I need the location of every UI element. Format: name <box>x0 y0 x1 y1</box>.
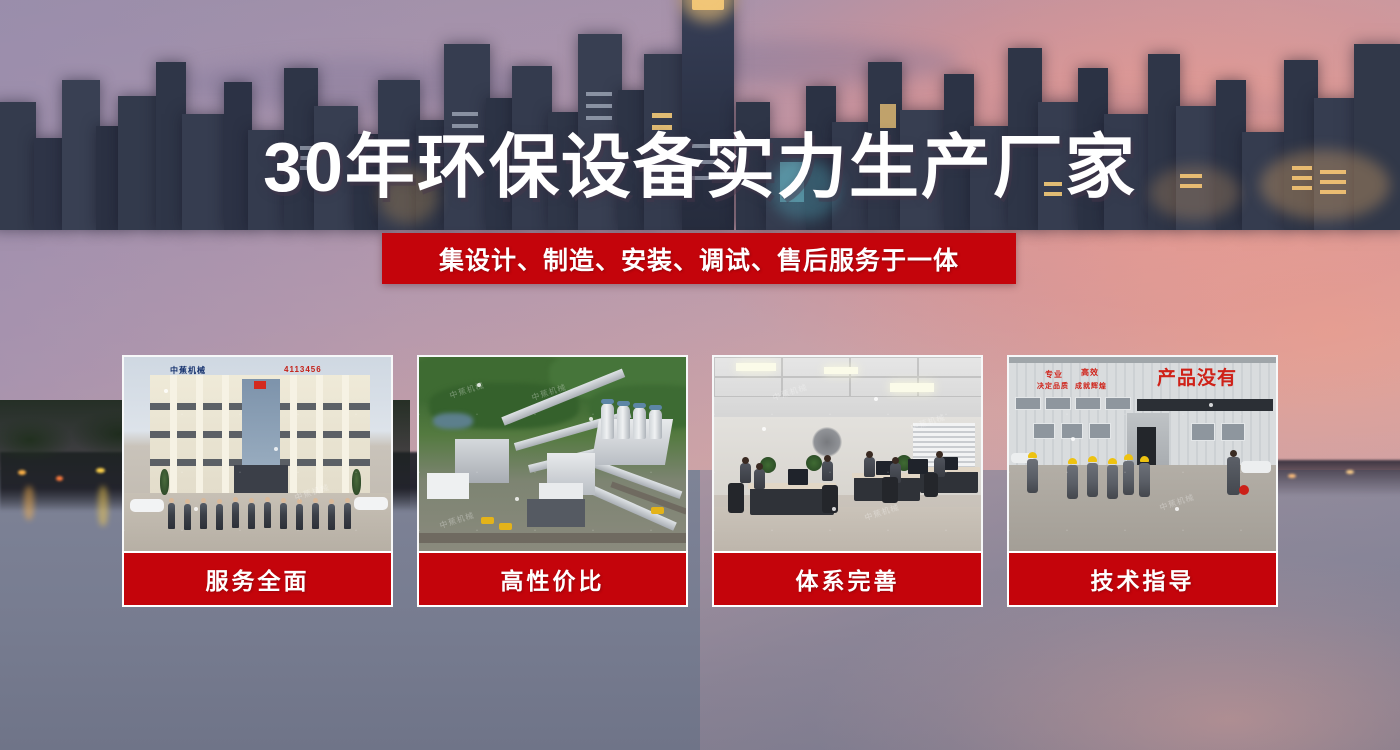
silo-top <box>617 401 630 406</box>
card-caption-text: 服务全面 <box>206 562 310 596</box>
factory-window <box>1105 397 1131 410</box>
mesh-node <box>874 397 878 401</box>
window-light <box>652 113 672 118</box>
window-light <box>586 104 612 108</box>
factory-slogan-large: 产品没有 <box>1157 363 1237 390</box>
water-reflection <box>98 486 108 526</box>
window-light <box>586 92 612 96</box>
feature-card[interactable]: 产品没有 专业 高效 决定品质 成就辉煌 <box>1007 355 1278 607</box>
factory-window <box>1033 423 1055 439</box>
ceiling-tile <box>850 357 918 377</box>
silo-top <box>633 403 646 408</box>
company-sign-text: 中蕉机械 <box>170 365 206 376</box>
factory-slogan-small: 高效 <box>1081 367 1099 378</box>
factory-window <box>1089 423 1111 439</box>
courtyard-ground <box>124 493 393 551</box>
factory-window <box>1075 397 1101 410</box>
building-column <box>290 375 297 493</box>
water-reflection <box>24 486 34 520</box>
red-helmet-icon <box>1239 485 1249 495</box>
staff-figure <box>296 504 303 530</box>
staff-figure <box>184 504 191 530</box>
worker-figure <box>1067 465 1078 499</box>
worker-figure <box>1107 465 1118 499</box>
company-sign-phone: 4113456 <box>284 365 322 374</box>
office-worker <box>822 461 833 481</box>
cement-silo <box>601 403 614 439</box>
staff-figure <box>280 503 287 529</box>
cement-silo <box>649 409 662 439</box>
worker-figure <box>1139 463 1150 497</box>
office-worker <box>864 457 875 477</box>
cement-silo <box>617 405 630 439</box>
ceiling-light <box>824 367 858 374</box>
card-caption-bar: 技术指导 <box>1007 551 1278 607</box>
card-thumbnail-office[interactable]: 中蕉机械 中蕉机械 中蕉机械 <box>712 355 983 551</box>
tree-icon <box>352 469 361 495</box>
card-caption-text: 体系完善 <box>796 562 900 596</box>
mesh-node <box>832 507 836 511</box>
scene-headquarters: 中蕉机械 4113456 <box>124 357 391 551</box>
card-thumbnail-headquarters[interactable]: 中蕉机械 4113456 <box>122 355 393 551</box>
plant-structure <box>527 499 585 527</box>
factory-window <box>1015 397 1041 410</box>
staff-figure <box>264 502 271 528</box>
card-caption-bar: 服务全面 <box>122 551 393 607</box>
flag-icon <box>254 381 266 389</box>
building-column <box>342 375 349 493</box>
factory-slogan-small: 成就辉煌 <box>1075 381 1107 391</box>
factory-window <box>1221 423 1245 441</box>
monitor <box>788 469 808 485</box>
mesh-node <box>1071 437 1075 441</box>
factory-window <box>1045 397 1071 410</box>
scene-office-interior <box>714 357 981 551</box>
mesh-node <box>589 417 593 421</box>
factory-roofline <box>1009 357 1278 363</box>
worker-figure <box>1027 459 1038 493</box>
building-column <box>196 375 203 493</box>
window-light <box>452 112 478 116</box>
dump-truck-icon <box>499 523 512 530</box>
feature-card[interactable]: 中蕉机械 中蕉机械 中蕉机械 高性价比 <box>417 355 688 607</box>
water-pond <box>433 413 473 429</box>
factory-vent-strip <box>1137 399 1273 411</box>
shore-light <box>1288 474 1296 478</box>
feature-card[interactable]: 中蕉机械 中蕉机械 中蕉机械 体系完善 <box>712 355 983 607</box>
office-chair <box>728 483 744 513</box>
page-title: 30年环保设备实力生产厂家 <box>0 132 1400 202</box>
shore-light <box>96 468 105 473</box>
mesh-node <box>515 497 519 501</box>
building-column <box>316 375 323 493</box>
mesh-node <box>194 507 198 511</box>
mesh-node <box>274 447 278 451</box>
cement-silo <box>633 407 646 439</box>
office-worker <box>754 469 765 489</box>
dump-truck-icon <box>651 507 664 514</box>
feature-card-list: 中蕉机械 4113456 <box>122 355 1278 607</box>
card-thumbnail-plant-aerial[interactable]: 中蕉机械 中蕉机械 中蕉机械 <box>417 355 688 551</box>
card-caption-text: 高性价比 <box>501 562 605 596</box>
staff-figure <box>168 503 175 529</box>
window-light <box>586 116 612 120</box>
card-thumbnail-workshop[interactable]: 产品没有 专业 高效 决定品质 成就辉煌 <box>1007 355 1278 551</box>
worker-figure <box>1087 463 1098 497</box>
ceiling-light <box>736 363 776 371</box>
wall-emblem <box>812 427 842 457</box>
feature-card[interactable]: 中蕉机械 4113456 <box>122 355 393 607</box>
plant-structure <box>427 473 469 499</box>
silo-top <box>649 405 662 410</box>
office-chair <box>924 473 938 497</box>
car-icon <box>1241 461 1271 473</box>
building-column <box>170 375 177 493</box>
potted-plant <box>806 455 822 471</box>
promo-banner: 30年环保设备实力生产厂家 集设计、制造、安装、调试、售后服务于一体 <box>0 0 1400 750</box>
staff-figure <box>248 503 255 529</box>
car-icon <box>354 497 388 510</box>
mesh-node <box>1209 403 1213 407</box>
card-caption-text: 技术指导 <box>1091 562 1195 596</box>
subtitle-bar: 集设计、制造、安装、调试、售后服务于一体 <box>382 233 1016 284</box>
shore-light <box>18 470 26 475</box>
monitor <box>908 459 928 474</box>
window-light <box>880 104 896 128</box>
worker-figure <box>1123 461 1134 495</box>
tree-icon <box>160 469 169 495</box>
building-column <box>222 375 229 493</box>
staff-figure <box>312 503 319 529</box>
mesh-node <box>762 427 766 431</box>
factory-slogan-small: 决定品质 <box>1037 381 1069 391</box>
card-caption-bar: 高性价比 <box>417 551 688 607</box>
dump-truck-icon <box>481 517 494 524</box>
plant-structure <box>539 483 583 499</box>
factory-slogan-small: 专业 <box>1045 369 1063 380</box>
ceiling-light <box>890 383 934 392</box>
subtitle-text: 集设计、制造、安装、调试、售后服务于一体 <box>439 241 959 277</box>
shore-light <box>1346 470 1354 474</box>
factory-window <box>1191 423 1215 441</box>
silo-top <box>601 399 614 404</box>
car-icon <box>130 499 164 512</box>
mesh-node <box>164 389 168 393</box>
staff-figure <box>200 503 207 529</box>
office-worker <box>740 463 751 483</box>
office-chair <box>882 477 898 503</box>
site-road <box>419 533 688 543</box>
shore-light <box>56 476 63 481</box>
scene-workshop-training: 产品没有 专业 高效 决定品质 成就辉煌 <box>1009 357 1276 551</box>
staff-figure <box>216 504 223 530</box>
staff-figure <box>232 502 239 528</box>
card-caption-bar: 体系完善 <box>712 551 983 607</box>
staff-figure <box>328 504 335 530</box>
ceiling-tile <box>918 357 983 377</box>
entrance-porch <box>234 465 288 495</box>
staff-figure <box>344 503 351 529</box>
